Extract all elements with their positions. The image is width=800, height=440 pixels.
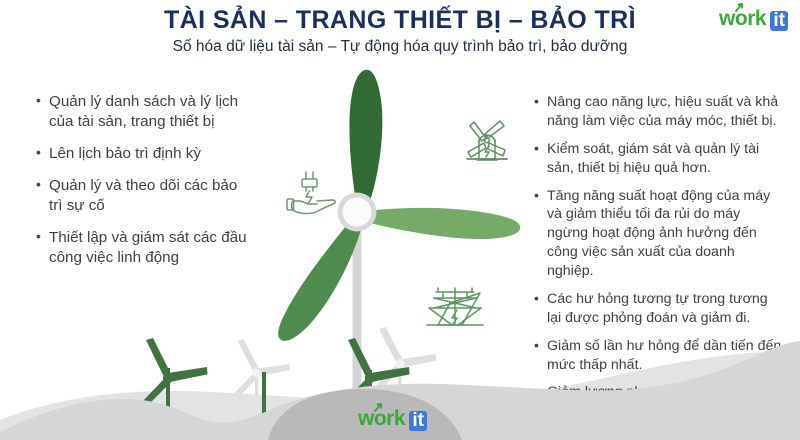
hand-plug-icon (287, 172, 335, 214)
list-item: Tăng năng suất hoạt động của máy và giảm… (534, 187, 784, 281)
turbine-blade-top (349, 70, 382, 207)
left-bullet-list: Quản lý danh sách và lý lịch của tài sản… (36, 92, 251, 268)
brand-logo-top[interactable]: work it (719, 8, 788, 30)
brand-logo-bottom[interactable]: work it (358, 408, 427, 430)
turbine-hub (338, 193, 377, 232)
list-item: Quản lý và theo dõi các bảo trì sự cố (36, 176, 251, 216)
brand-logo-wordmark: work (358, 407, 410, 430)
list-item: Các hư hỏng tương tự trong tương lại đượ… (534, 290, 784, 328)
page-subtitle: Số hóa dữ liệu tài sản – Tự động hóa quy… (0, 38, 800, 56)
left-benefits-column: Quản lý danh sách và lý lịch của tài sản… (36, 92, 251, 280)
turbine-hub-inner (343, 198, 372, 227)
list-item: Thiết lập và giám sát các đầu công việc … (36, 228, 251, 268)
small-turbine-gray-1 (233, 339, 291, 440)
turbine-blade-right (360, 208, 520, 239)
main-wind-turbine (278, 70, 520, 427)
list-item: Nâng cao năng lực, hiệu suất và khả năng… (534, 93, 784, 131)
small-turbine-green-1 (140, 338, 208, 440)
brand-arrow-icon (372, 400, 386, 414)
brand-arrow-icon (733, 0, 747, 14)
windmill-power-icon (467, 121, 507, 160)
list-item: Quản lý danh sách và lý lịch của tài sản… (36, 92, 251, 132)
list-item: Giảm số lần hư hỏng để dần tiến đến mức … (534, 337, 784, 375)
brand-logo-badge: it (409, 411, 427, 431)
turbine-tower (353, 205, 362, 427)
list-item: Lên lịch bảo trì định kỳ (36, 144, 251, 164)
right-benefits-column: Nâng cao năng lực, hiệu suất và khả năng… (534, 93, 784, 411)
list-item: Giảm lượng phụ tùng tồn kho (534, 383, 784, 402)
right-bullet-list: Nâng cao năng lực, hiệu suất và khả năng… (534, 93, 784, 402)
brand-logo-wordmark: work (719, 7, 771, 30)
page-title: TÀI SẢN – TRANG THIẾT BỊ – BẢO TRÌ (0, 6, 800, 35)
list-item: Kiểm soát, giám sát và quản lý tài sản, … (534, 140, 784, 178)
slide-canvas: TÀI SẢN – TRANG THIẾT BỊ – BẢO TRÌ Số hó… (0, 0, 800, 440)
turbine-blade-left (278, 216, 362, 341)
power-pylon-icon (427, 288, 483, 325)
brand-logo-badge: it (770, 11, 788, 31)
small-turbine-green-3 (262, 372, 266, 440)
